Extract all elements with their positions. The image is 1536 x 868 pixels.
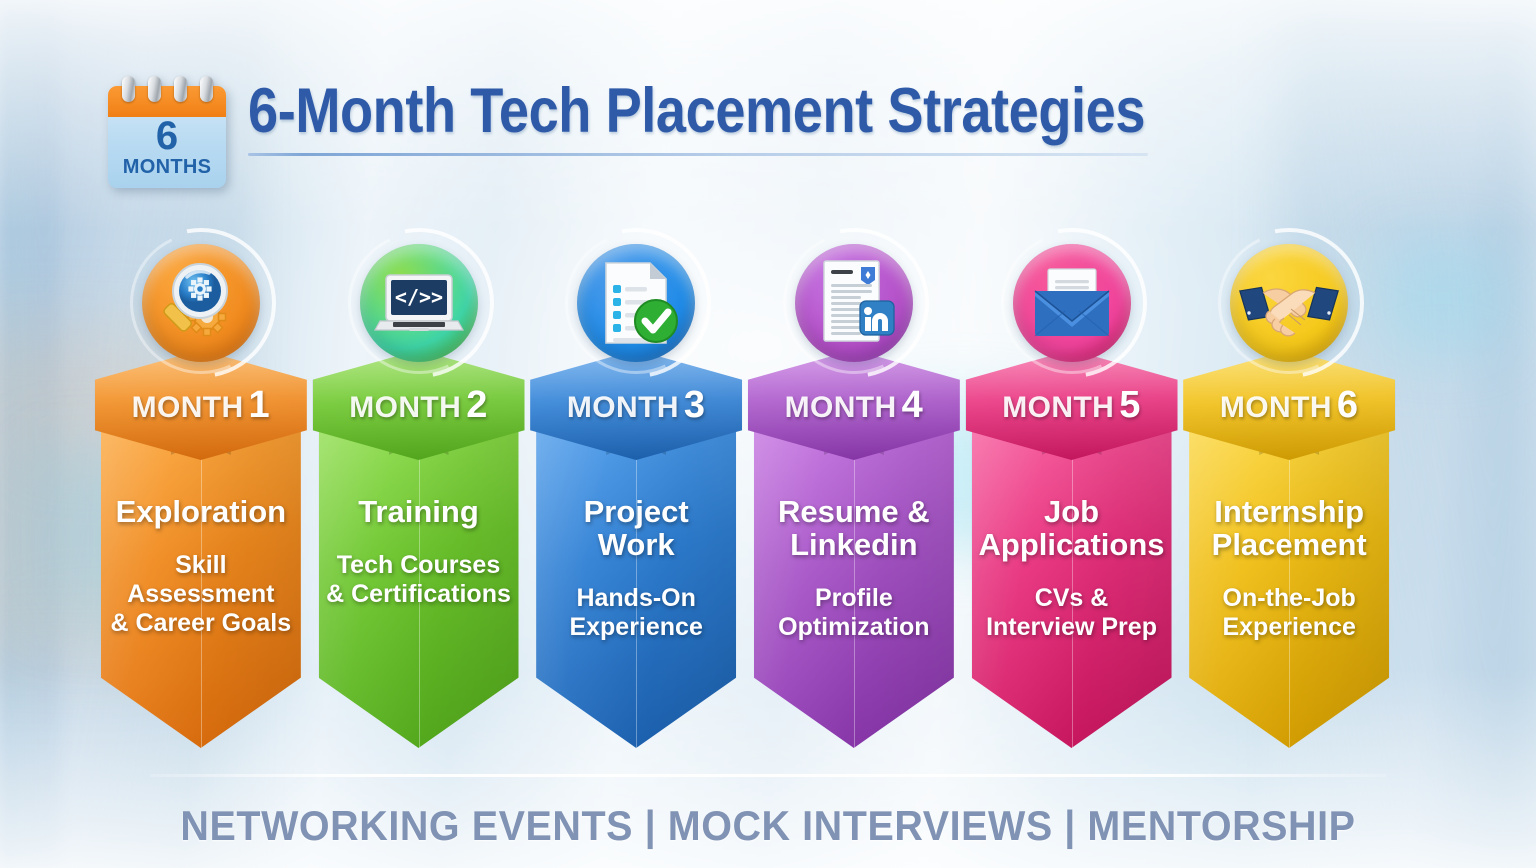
svg-text:</>>: </>> (394, 285, 442, 309)
column-title-line: Placement (1212, 527, 1367, 562)
timeline-column-6[interactable]: MONTH6 Internship Placement On-the-Job E… (1180, 228, 1398, 748)
column-icon-badge (779, 228, 929, 378)
infographic-canvas: 6 MONTHS 6-Month Tech Placement Strategi… (0, 0, 1536, 868)
header: 6 MONTHS 6-Month Tech Placement Strategi… (108, 62, 1291, 188)
column-icon-badge (561, 228, 711, 378)
column-subtitle-line: Interview Prep (986, 613, 1157, 641)
month-label: MONTH3 (567, 384, 706, 427)
timeline-column-2[interactable]: </>> MONTH2 Training Tech Courses & Cert… (310, 228, 528, 748)
title-block: 6-Month Tech Placement Strategies (248, 62, 1291, 156)
column-title: Internship Placement (1189, 496, 1389, 562)
month-label: MONTH1 (132, 384, 271, 427)
month-word: MONTH (349, 391, 461, 424)
column-title-line: Training (358, 494, 479, 529)
calendar-ring-icon (148, 76, 161, 102)
column-subtitle: CVs & Interview Prep (972, 584, 1172, 642)
column-title: Job Applications (972, 496, 1172, 562)
column-title-line: Project Work (584, 494, 689, 562)
column-subtitle-line: Tech Courses (337, 551, 500, 579)
month-label: MONTH2 (349, 384, 488, 427)
column-ribbon[interactable]: Exploration Skill Assessment & Career Go… (101, 428, 301, 748)
calendar-ring-icon (200, 76, 213, 102)
column-icon-badge: </>> (344, 228, 494, 378)
month-word: MONTH (567, 391, 679, 424)
timeline-column-5[interactable]: MONTH5 Job Applications CVs & Interview … (963, 228, 1181, 748)
calendar-number: 6 (108, 116, 226, 156)
page-title: 6-Month Tech Placement Strategies (248, 78, 1145, 144)
month-number: 2 (466, 384, 488, 426)
month-word: MONTH (132, 391, 244, 424)
calendar-label: MONTHS (108, 156, 226, 179)
month-label: MONTH6 (1220, 384, 1359, 427)
column-icon-badge (126, 228, 276, 378)
footer-text: NETWORKING EVENTS | MOCK INTERVIEWS | ME… (46, 802, 1490, 850)
column-subtitle: Profile Optimization (754, 584, 954, 642)
column-subtitle-line: & Career Goals (111, 609, 292, 637)
resume-linkedin-icon (804, 253, 904, 353)
column-ribbon[interactable]: Resume & Linkedin Profile Optimization (754, 428, 954, 748)
column-subtitle: Hands-On Experience (536, 584, 736, 642)
column-subtitle: Tech Courses & Certifications (319, 551, 519, 609)
month-word: MONTH (1220, 391, 1332, 424)
magnifier-gear-icon (151, 253, 251, 353)
month-number: 3 (684, 384, 706, 426)
envelope-mail-icon (1022, 253, 1122, 353)
column-subtitle-line: Profile (815, 584, 893, 612)
timeline-columns: MONTH1 Exploration Skill Assessment & Ca… (92, 228, 1398, 748)
column-title: Resume & Linkedin (754, 496, 954, 562)
column-subtitle-line: On-the-Job (1223, 584, 1356, 612)
month-number: 6 (1337, 384, 1359, 426)
handshake-icon (1239, 253, 1339, 353)
column-ribbon[interactable]: Job Applications CVs & Interview Prep (972, 428, 1172, 748)
month-number: 1 (249, 384, 271, 426)
column-subtitle-line: Optimization (778, 613, 929, 641)
column-ribbon[interactable]: Training Tech Courses & Certifications (319, 428, 519, 748)
column-title: Project Work (536, 496, 736, 562)
column-subtitle-line: Experience (569, 613, 702, 641)
month-word: MONTH (785, 391, 897, 424)
column-icon-badge (1214, 228, 1364, 378)
column-subtitle-line: Skill Assessment (127, 551, 274, 608)
month-number: 4 (902, 384, 924, 426)
month-label: MONTH5 (1002, 384, 1141, 427)
column-title-line: Resume & (778, 494, 930, 529)
column-subtitle: Skill Assessment & Career Goals (101, 551, 301, 638)
calendar-ring-icon (122, 76, 135, 102)
column-subtitle: On-the-Job Experience (1189, 584, 1389, 642)
timeline-column-4[interactable]: MONTH4 Resume & Linkedin Profile Optimiz… (745, 228, 963, 748)
column-subtitle-line: Hands-On (576, 584, 695, 612)
column-title-line: Exploration (116, 494, 287, 529)
column-title-line: Linkedin (790, 527, 917, 562)
column-ribbon[interactable]: Internship Placement On-the-Job Experien… (1189, 428, 1389, 748)
column-title-line: Applications (979, 527, 1165, 562)
month-number: 5 (1119, 384, 1141, 426)
calendar-ring-icon (174, 76, 187, 102)
month-label: MONTH4 (785, 384, 924, 427)
column-subtitle-line: & Certifications (326, 580, 511, 608)
calendar-icon: 6 MONTHS (108, 76, 226, 188)
column-subtitle-line: CVs & (1035, 584, 1109, 612)
column-title: Exploration (101, 496, 301, 529)
column-subtitle-line: Experience (1222, 613, 1355, 641)
column-title-line: Internship (1214, 494, 1364, 529)
footer: NETWORKING EVENTS | MOCK INTERVIEWS | ME… (0, 802, 1536, 850)
title-underline (248, 153, 1148, 156)
footer-divider (150, 774, 1386, 777)
timeline-column-1[interactable]: MONTH1 Exploration Skill Assessment & Ca… (92, 228, 310, 748)
timeline-column-3[interactable]: MONTH3 Project Work Hands-On Experience (527, 228, 745, 748)
column-icon-badge (997, 228, 1147, 378)
checklist-document-icon (586, 253, 686, 353)
column-title-line: Job (1044, 494, 1099, 529)
column-ribbon[interactable]: Project Work Hands-On Experience (536, 428, 736, 748)
laptop-code-icon: </>> (369, 253, 469, 353)
month-word: MONTH (1002, 391, 1114, 424)
column-title: Training (319, 496, 519, 529)
